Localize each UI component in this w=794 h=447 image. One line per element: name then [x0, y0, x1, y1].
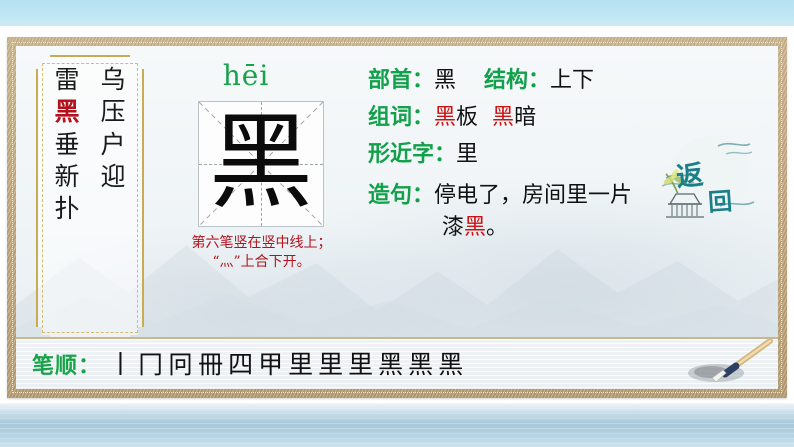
poem-char: 迎 — [100, 164, 125, 190]
stroke-order-label: 笔顺： — [32, 348, 101, 380]
word-1-highlight: 黑 — [434, 105, 456, 130]
poem-char: 扑 — [54, 196, 79, 222]
poem-char: 压 — [100, 99, 125, 125]
stroke-step: 四 — [228, 352, 253, 377]
stroke-step: 黑 — [378, 352, 403, 377]
sentence-label: 造句： — [368, 183, 434, 208]
slide-root: 乌 压 户 迎 雷 黑 垂 新 扑 hēi — [0, 0, 794, 447]
bottom-water-band — [0, 403, 794, 447]
wooden-frame: 乌 压 户 迎 雷 黑 垂 新 扑 hēi — [7, 37, 787, 398]
sentence-part-2-highlight: 黑 — [464, 215, 486, 240]
sentence-part-2-post: 。 — [486, 215, 508, 240]
poem-char: 户 — [100, 132, 125, 158]
stroke-step: 丨 — [108, 352, 133, 377]
structure-label: 结构： — [484, 68, 550, 93]
main-character: 黑 — [199, 102, 323, 226]
poem-panel: 乌 压 户 迎 雷 黑 垂 新 扑 — [36, 55, 144, 341]
return-char-2: 回 — [707, 181, 733, 218]
stroke-tip-line-2: “灬”上合下开。 — [154, 253, 369, 272]
similar-value: 里 — [456, 142, 478, 167]
stroke-step: 里 — [288, 352, 313, 377]
return-button[interactable]: 返 回 — [656, 132, 760, 224]
stroke-step: 冂 — [138, 352, 163, 377]
calligraphy-brush-illustration — [678, 339, 774, 389]
info-row-radical-structure: 部首：黑 结构：上下 — [368, 70, 778, 92]
pinyin-text: hēi — [166, 59, 326, 92]
stroke-step: 甲 — [258, 352, 283, 377]
stroke-order-bar: 笔顺： 丨 冂 冋 冊 四 甲 里 里 里 黑 黑 黑 — [16, 337, 778, 389]
poem-column-right: 乌 压 户 迎 — [92, 67, 134, 329]
content-paper: 乌 压 户 迎 雷 黑 垂 新 扑 hēi — [16, 46, 778, 389]
stroke-step: 黑 — [408, 352, 433, 377]
brush-icon — [678, 339, 774, 389]
poem-char: 雷 — [54, 67, 79, 93]
info-row-words: 组词：黑板 黑暗 — [368, 107, 778, 129]
similar-label: 形近字： — [368, 142, 456, 167]
sentence-part-2-pre: 漆 — [442, 215, 464, 240]
structure-value: 上下 — [550, 68, 594, 93]
poem-columns: 乌 压 户 迎 雷 黑 垂 新 扑 — [36, 55, 144, 341]
stroke-tip: 第六笔竖在竖中线上； “灬”上合下开。 — [154, 234, 369, 272]
poem-column-left: 雷 黑 垂 新 扑 — [46, 67, 88, 329]
poem-char-highlight: 黑 — [54, 99, 79, 125]
character-grid: 黑 — [198, 101, 324, 227]
return-char-1-text: 返 — [675, 160, 705, 194]
word-2-highlight: 黑 — [492, 105, 514, 130]
stroke-step: 黑 — [438, 352, 463, 377]
stroke-tip-line-1: 第六笔竖在竖中线上； — [154, 234, 369, 253]
stroke-step: 里 — [348, 352, 373, 377]
radical-label: 部首： — [368, 68, 434, 93]
return-char-1: 返 — [674, 153, 705, 195]
radical-value: 黑 — [434, 68, 456, 93]
words-label: 组词： — [368, 105, 434, 130]
stroke-step: 冊 — [198, 352, 223, 377]
word-1-rest: 板 — [456, 105, 478, 130]
stroke-order-steps: 丨 冂 冋 冊 四 甲 里 里 里 黑 黑 黑 — [108, 352, 678, 377]
word-2-rest: 暗 — [514, 105, 536, 130]
stroke-step: 里 — [318, 352, 343, 377]
top-decorative-band — [0, 0, 794, 26]
poem-char: 乌 — [100, 67, 125, 93]
sentence-part-1: 停电了，房间里一片 — [434, 181, 632, 211]
poem-char: 新 — [54, 164, 79, 190]
stroke-step: 冋 — [168, 352, 193, 377]
poem-char: 垂 — [54, 132, 79, 158]
return-char-2-text: 回 — [707, 186, 733, 217]
